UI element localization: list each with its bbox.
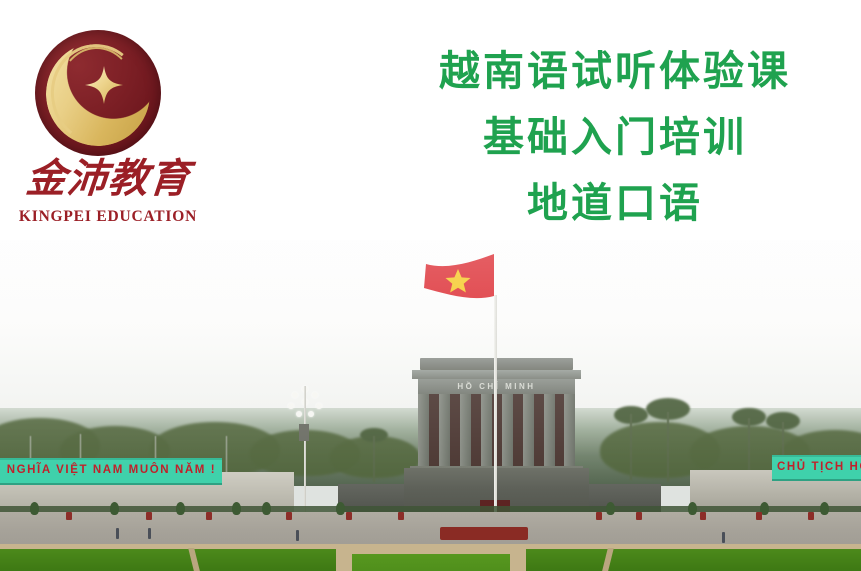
flagpole	[494, 295, 497, 524]
shrub	[606, 502, 615, 515]
vietnam-flag-icon	[420, 252, 496, 308]
headline-group: 越南语试听体验课 基础入门培训 地道口语	[400, 38, 830, 236]
hero-photo: Ủ NGHĨA VIỆT NAM MUÔN NĂM ! CHỦ TỊCH HỒ …	[0, 240, 861, 571]
visitor	[722, 532, 725, 543]
headline-line-2: 基础入门培训	[400, 104, 830, 170]
banner-left-text: Ủ NGHĨA VIỆT NAM MUÔN NĂM !	[0, 460, 222, 481]
brand-logo: 金沛教育 KINGPEI EDUCATION	[8, 22, 208, 232]
lamp-globe	[308, 411, 314, 417]
poster-root: 金沛教育 KINGPEI EDUCATION 越南语试听体验课 基础入门培训 地…	[0, 0, 861, 571]
shrub	[232, 502, 241, 515]
shrub	[820, 502, 829, 515]
lamp-globe	[296, 411, 302, 417]
column	[481, 394, 492, 468]
flower-planter	[636, 512, 642, 520]
flower-planter	[146, 512, 152, 520]
flower-planter	[808, 512, 814, 520]
lamp-fixture-box	[299, 424, 309, 441]
visitor	[148, 528, 151, 539]
column	[502, 394, 513, 468]
headline-line-1: 越南语试听体验课	[400, 38, 830, 104]
flower-planter	[206, 512, 212, 520]
flower-planter	[66, 512, 72, 520]
flower-planter	[286, 512, 292, 520]
column	[564, 394, 575, 468]
flag-mast	[226, 436, 227, 476]
brand-name-english: KINGPEI EDUCATION	[8, 208, 208, 226]
crescent-star-emblem-icon	[35, 30, 161, 156]
flower-planter	[398, 512, 404, 520]
palm-trunk	[667, 412, 669, 482]
four-point-star-icon	[85, 66, 123, 104]
lamp-globe	[312, 392, 318, 398]
shrub	[336, 502, 345, 515]
lamp-globe	[316, 403, 322, 409]
flower-planter	[346, 512, 352, 520]
flower-planter	[700, 512, 706, 520]
shrub	[176, 502, 185, 515]
column	[544, 394, 555, 468]
headline-line-3: 地道口语	[400, 170, 830, 236]
memorial-wreath	[440, 527, 528, 540]
flower-planter	[596, 512, 602, 520]
banner-left: Ủ NGHĨA VIỆT NAM MUÔN NĂM !	[0, 458, 222, 485]
lamp-globe	[292, 392, 298, 398]
banner-right: CHỦ TỊCH HỒ	[772, 455, 861, 481]
palm-trunk	[373, 436, 375, 482]
column	[439, 394, 450, 468]
column	[418, 394, 429, 468]
visitor	[116, 528, 119, 539]
column	[523, 394, 534, 468]
palm-trunk	[630, 414, 632, 480]
banner-right-text: CHỦ TỊCH HỒ	[772, 457, 861, 477]
shrub	[110, 502, 119, 515]
brand-name-chinese: 金沛教育	[6, 156, 210, 202]
shrub	[262, 502, 271, 515]
flower-planter	[756, 512, 762, 520]
shrub	[30, 502, 39, 515]
shrub	[688, 502, 697, 515]
lamp-globe	[288, 403, 294, 409]
lawn-center-strip	[352, 554, 510, 571]
column	[460, 394, 471, 468]
header-band: 金沛教育 KINGPEI EDUCATION 越南语试听体验课 基础入门培训 地…	[0, 0, 861, 240]
visitor	[296, 530, 299, 541]
